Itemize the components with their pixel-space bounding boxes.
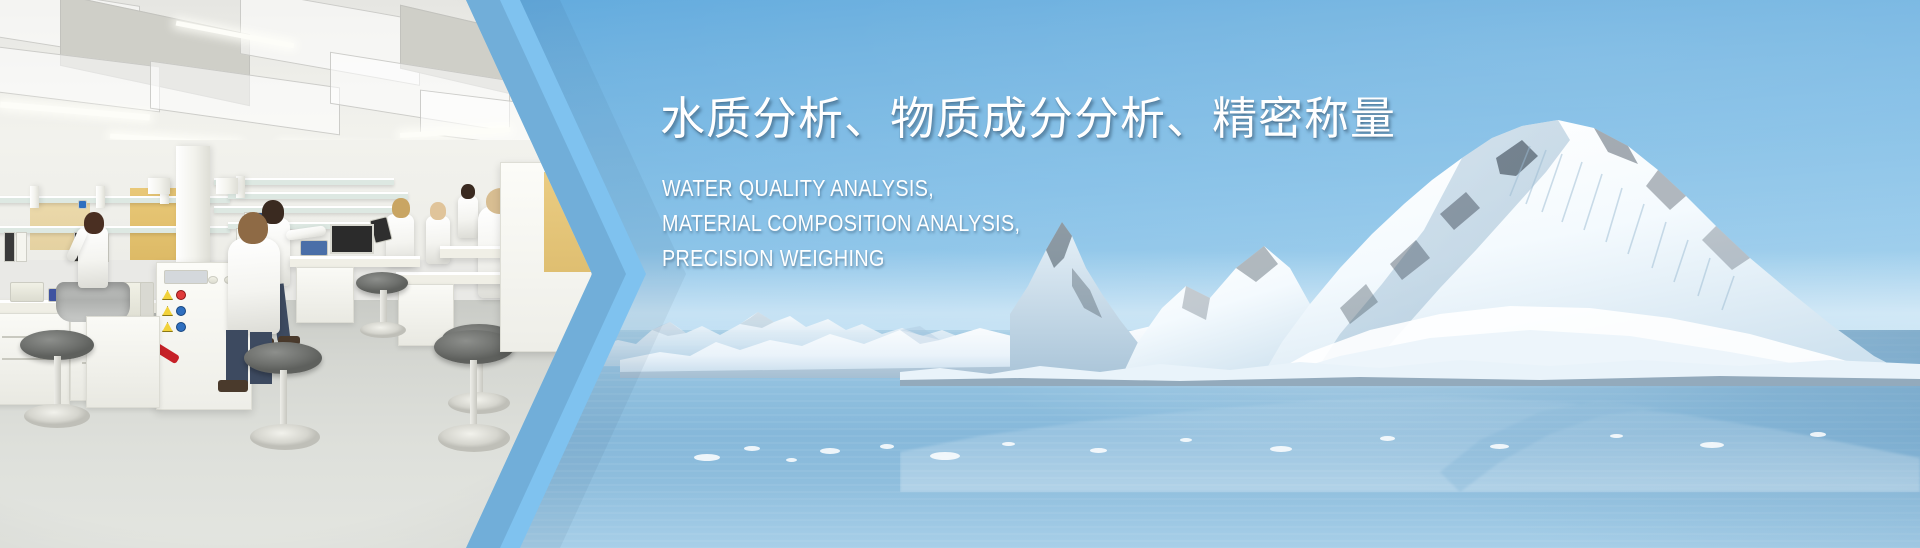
ice-fragment (786, 458, 797, 462)
ice-fragment (820, 448, 840, 454)
mountain-reflection (900, 372, 1920, 492)
ice-fragment (1380, 436, 1395, 441)
subtitle-line-2: MATERIAL COMPOSITION ANALYSIS, (662, 206, 1262, 241)
ice-fragment (1270, 446, 1292, 452)
ice-fragment (1180, 438, 1192, 442)
subtitle-line-1: WATER QUALITY ANALYSIS, (662, 171, 1262, 206)
ice-fragment (744, 446, 760, 451)
ice-fragment (1490, 444, 1509, 449)
ice-fragment (930, 452, 960, 460)
subtitle-line-3: PRECISION WEIGHING (662, 241, 1262, 276)
ice-fragment (1810, 432, 1826, 437)
ice-fragment (880, 444, 894, 449)
laboratory-photo (0, 0, 592, 548)
ice-fragment (694, 454, 720, 461)
ice-fragment (1090, 448, 1107, 453)
ice-fragment (1700, 442, 1724, 448)
ice-fragment (1610, 434, 1623, 438)
banner-copy: 水质分析、物质成分分析、精密称量 WATER QUALITY ANALYSIS,… (660, 92, 1360, 276)
page-title: 水质分析、物质成分分析、精密称量 (660, 92, 1360, 145)
banner-subtitle: WATER QUALITY ANALYSIS, MATERIAL COMPOSI… (662, 171, 1262, 276)
ice-fragment (1002, 442, 1015, 446)
hero-banner: 水质分析、物质成分分析、精密称量 WATER QUALITY ANALYSIS,… (0, 0, 1920, 548)
